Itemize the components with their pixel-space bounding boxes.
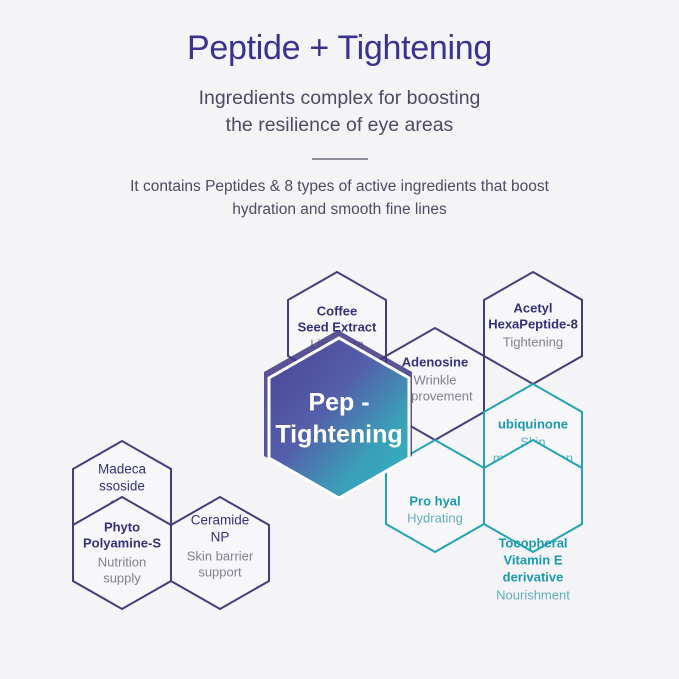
hex-label-tocopheral-2: Vitamin E	[503, 552, 562, 567]
subtitle-line-1: Ingredients complex for boosting	[199, 87, 481, 109]
hex-node-acetyl-hexapeptide-8[interactable]: Acetyl HexaPeptide-8 Tightening	[484, 272, 582, 384]
hexagon-diagram: Coffee Seed Extract Line care Adenosine …	[0, 248, 679, 679]
hex-desc-acetyl-1: Tightening	[503, 334, 563, 349]
center-label-line-1: Pep -	[308, 389, 369, 417]
hex-desc-prohyal-1: Hydrating	[407, 510, 463, 525]
subtitle: Ingredients complex for boosting the res…	[0, 69, 679, 140]
hex-label-ubiquinone-1: ubiquinone	[498, 416, 568, 431]
hex-label-phyto-1: Phyto	[104, 519, 140, 534]
hex-label-coffee-1: Coffee	[317, 303, 357, 318]
hex-label-madeca-1: Madeca	[98, 462, 147, 477]
hex-desc-adenosine-1: Wrinkle	[413, 372, 456, 387]
hex-desc-phyto-2: supply	[103, 570, 141, 585]
hex-label-adenosine-1: Adenosine	[402, 354, 468, 369]
hex-label-ceramide-2: NP	[211, 530, 230, 545]
hex-node-tocopheral-vitamin-e-derivative[interactable]: Tocopheral Vitamin E derivative Nourishm…	[484, 440, 582, 602]
hex-label-ceramide-1: Ceramide	[191, 513, 250, 528]
hex-node-ceramide-np[interactable]: Ceramide NP Skin barrier support	[171, 497, 269, 609]
hex-label-phyto-2: Polyamine-S	[83, 535, 161, 550]
infographic-page: Peptide + Tightening Ingredients complex…	[0, 0, 679, 679]
hex-desc-ceramide-2: support	[198, 564, 242, 579]
body-line-2: hydration and smooth fine lines	[232, 201, 447, 218]
hex-desc-phyto-1: Nutrition	[98, 554, 146, 569]
header-block: Peptide + Tightening Ingredients complex…	[0, 0, 679, 221]
hex-desc-ceramide-1: Skin barrier	[187, 548, 254, 563]
hex-label-tocopheral-1: Tocopheral	[498, 535, 567, 550]
hex-label-acetyl-2: HexaPeptide-8	[488, 316, 578, 331]
page-title: Peptide + Tightening	[0, 0, 679, 69]
body-text: It contains Peptides & 8 types of active…	[0, 160, 679, 222]
hex-label-madeca-2: ssoside	[99, 479, 145, 494]
hex-label-tocopheral-3: derivative	[503, 569, 564, 584]
hex-desc-tocopheral-1: Nourishment	[496, 587, 570, 602]
hex-label-prohyal-1: Pro hyal	[409, 493, 460, 508]
body-line-1: It contains Peptides & 8 types of active…	[130, 178, 549, 195]
center-label-line-2: Tightening	[275, 421, 402, 449]
hex-label-acetyl-1: Acetyl	[513, 300, 552, 315]
subtitle-line-2: the resilience of eye areas	[226, 114, 454, 136]
